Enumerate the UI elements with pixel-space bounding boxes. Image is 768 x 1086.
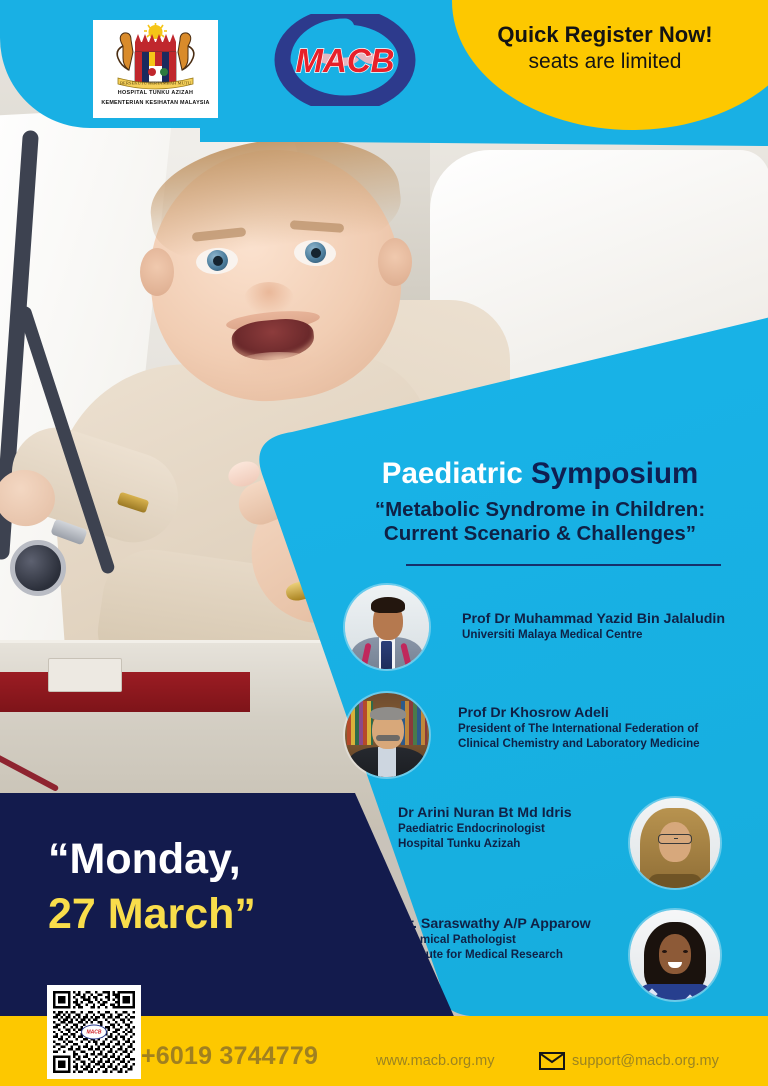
speaker-photo-yazid <box>345 585 429 669</box>
title-divider <box>406 564 721 566</box>
speaker-photo-adeli <box>345 693 429 777</box>
page-title: Paediatric Symposium <box>330 458 750 490</box>
subtitle-line-2: Current Scenario & Challenges” <box>322 522 758 546</box>
speaker-affiliation-1: Universiti Malaya Medical Centre <box>462 628 725 642</box>
speaker-affiliation-1: President of The International Federatio… <box>458 722 700 736</box>
speaker-name: Prof Dr Khosrow Adeli <box>458 705 700 722</box>
footer-phone[interactable]: +6019 3744779 <box>141 1042 318 1071</box>
footer-website[interactable]: www.macb.org.my <box>376 1053 494 1069</box>
qr-center-logo: MACB <box>81 1025 107 1040</box>
title-part-2: Symposium <box>531 457 698 490</box>
date-line-2: 27 March” <box>48 893 256 936</box>
footer-email[interactable]: support@macb.org.my <box>572 1053 719 1069</box>
speaker-photo-arini <box>630 798 720 888</box>
speaker-photo-saraswathy <box>630 910 720 1000</box>
speaker-affiliation-2: Clinical Chemistry and Laboratory Medici… <box>458 737 700 751</box>
qr-code[interactable]: MACB <box>47 985 141 1079</box>
date-line-1: “Monday, <box>48 838 241 881</box>
poster-root: BERSEKUTU BERTAMBAH MUTU HOSPITAL TUNKU … <box>0 0 768 1086</box>
envelope-icon <box>539 1052 565 1070</box>
subtitle-line-1: “Metabolic Syndrome in Children: <box>322 498 758 522</box>
page-subtitle: “Metabolic Syndrome in Children: Current… <box>322 498 758 546</box>
title-part-1: Paediatric <box>382 457 531 490</box>
speaker-name: Prof Dr Muhammad Yazid Bin Jalaludin <box>462 611 725 628</box>
